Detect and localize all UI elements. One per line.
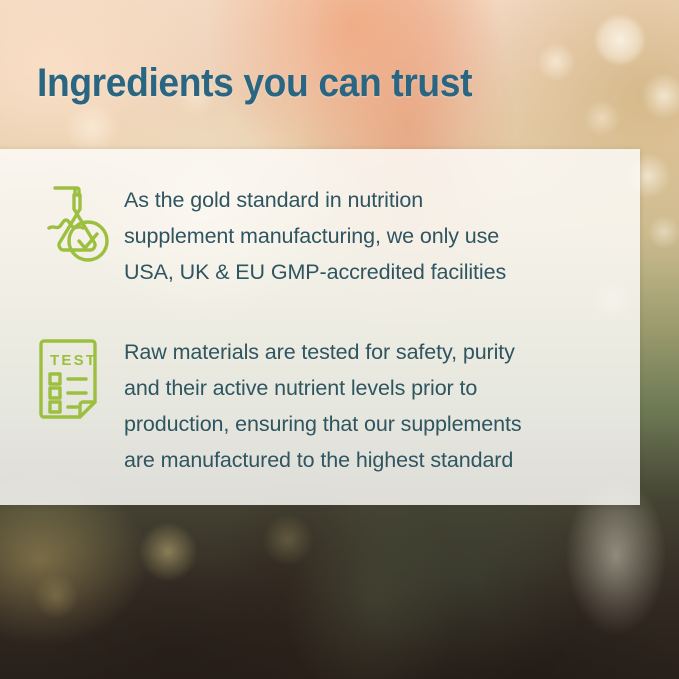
benefit-text-manufacturing: As the gold standard in nutrition supple…	[124, 182, 506, 290]
benefit-item-testing: TEST Raw materials are tested for safety…	[38, 334, 521, 478]
benefit-line: USA, UK & EU GMP-accredited facilities	[124, 254, 506, 290]
benefit-line: supplement manufacturing, we only use	[124, 218, 506, 254]
benefit-item-manufacturing: As the gold standard in nutrition supple…	[38, 182, 506, 290]
benefit-line: Raw materials are tested for safety, pur…	[124, 334, 521, 370]
content-card: As the gold standard in nutrition supple…	[0, 149, 640, 505]
test-document-icon: TEST	[38, 334, 124, 427]
benefit-line: As the gold standard in nutrition	[124, 182, 506, 218]
flask-check-icon-svg	[38, 184, 110, 264]
benefit-text-testing: Raw materials are tested for safety, pur…	[124, 334, 521, 478]
flask-check-icon	[38, 182, 124, 269]
test-icon-label: TEST	[50, 352, 97, 369]
test-document-icon-svg: TEST	[38, 336, 108, 422]
benefit-line: production, ensuring that our supplement…	[124, 406, 521, 442]
page-title: Ingredients you can trust	[37, 59, 595, 107]
benefit-line: and their active nutrient levels prior t…	[124, 370, 521, 406]
benefit-line: are manufactured to the highest standard	[124, 442, 521, 478]
ingredients-infographic: Ingredients you can trust As the gold st…	[0, 0, 679, 679]
